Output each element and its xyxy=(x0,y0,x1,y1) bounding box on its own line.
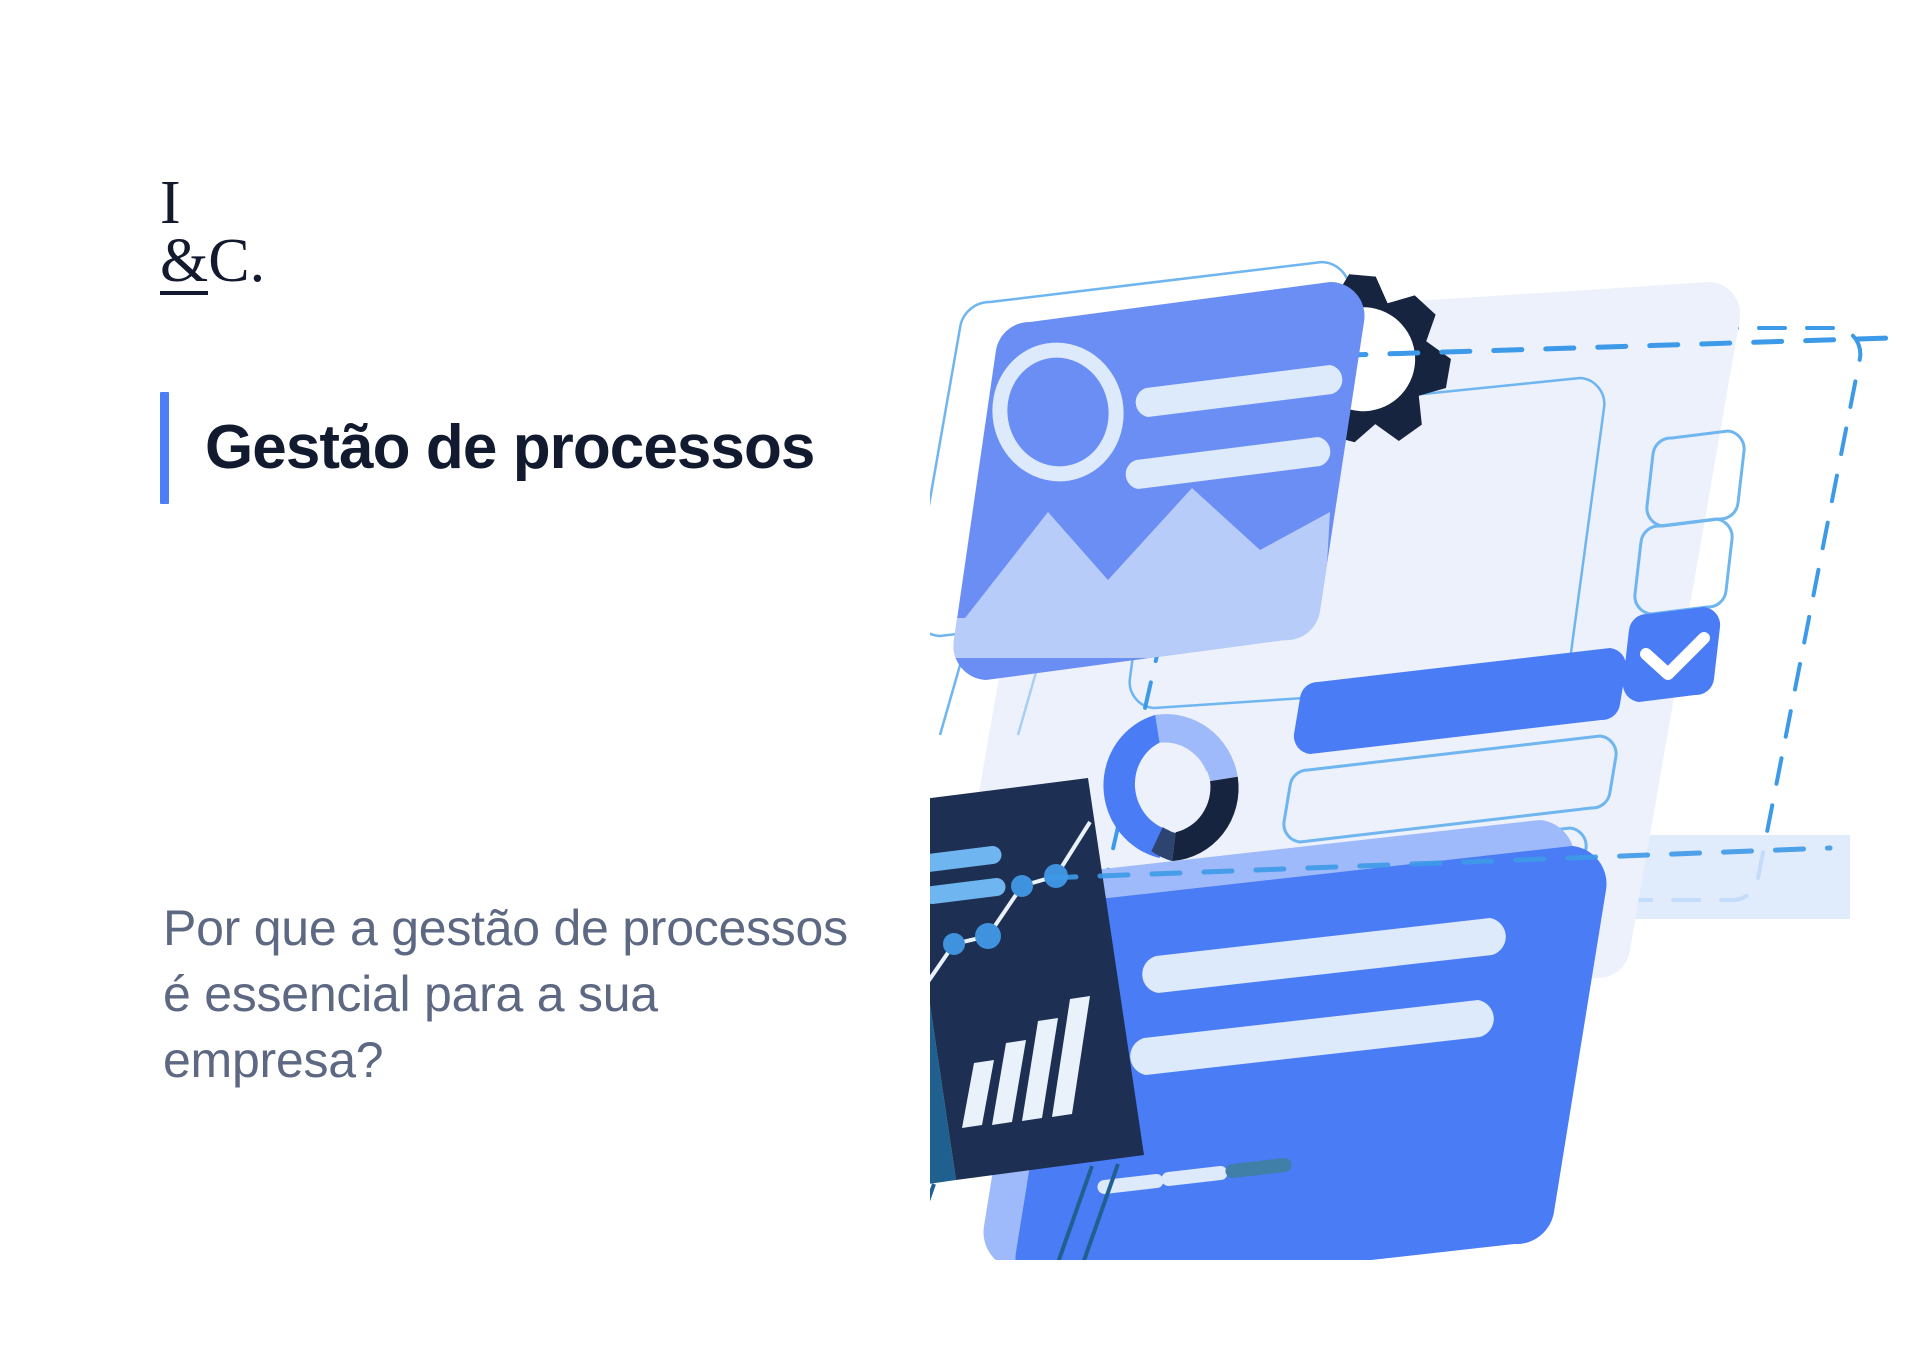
logo-initial-c: C. xyxy=(208,227,265,295)
title-text: Gestão de processos xyxy=(205,392,814,510)
page-canvas: I &C. Gestão de processos Por que a gest… xyxy=(0,0,1920,1350)
subtitle-text: Por que a gestão de processos é essencia… xyxy=(163,895,863,1093)
page-title: Gestão de processos xyxy=(160,392,814,510)
top-blue-card xyxy=(934,282,1365,680)
title-accent-bar xyxy=(160,392,169,504)
process-management-illustration xyxy=(930,250,1920,1260)
logo-ampersand: & xyxy=(160,234,208,295)
brand-logo: I &C. xyxy=(160,175,340,295)
logo-line-1: I xyxy=(160,175,340,233)
checkbox-checked[interactable] xyxy=(1623,607,1720,702)
logo-line-2: &C. xyxy=(160,233,340,295)
